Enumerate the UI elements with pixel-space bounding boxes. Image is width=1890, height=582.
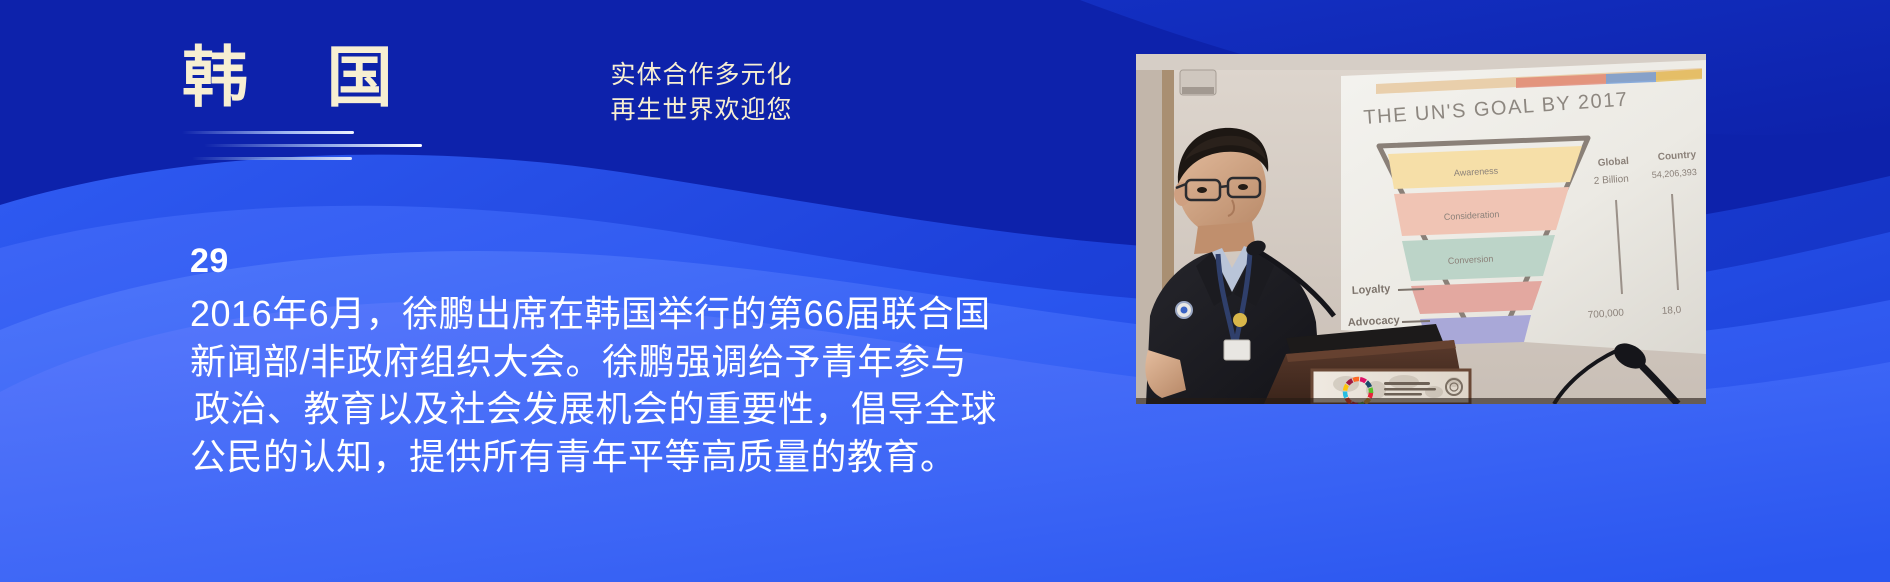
underline-rule-1 [182,131,354,134]
slide-subtitle: 实体合作多元化 再生世界欢迎您 [594,58,809,127]
presentation-slide: 韩 国 实体合作多元化 再生世界欢迎您 29 2016年6月，徐鹏出席在韩国举行… [0,0,1890,582]
title-group: 韩 国 [182,44,407,110]
slide-header: 韩 国 实体合作多元化 再生世界欢迎您 [0,0,1135,190]
slide-body: 29 2016年6月，徐鹏出席在韩国举行的第66届联合国 新闻部/非政府组织大会… [190,244,1050,480]
svg-text:Global: Global [1597,156,1629,169]
paragraph-line-4: 公民的认知，提供所有青年平等高质量的教育。 [190,433,1050,481]
item-number: 29 [190,244,1050,278]
underline-rule-2 [204,144,422,147]
page-title: 韩 国 [182,44,407,110]
paragraph-line-1: 2016年6月，徐鹏出席在韩国举行的第66届联合国 [190,290,1050,338]
title-underline-decoration [182,131,432,165]
photo-content: THE UN'S GOAL BY 2017 Awareness Consider… [1136,54,1706,404]
paragraph-line-3: 政治、教育以及社会发展机会的重要性，倡导全球 [190,385,1050,433]
body-paragraph: 2016年6月，徐鹏出席在韩国举行的第66届联合国 新闻部/非政府组织大会。徐鹏… [190,290,1050,480]
paragraph-line-2: 新闻部/非政府组织大会。徐鹏强调给予青年参与 [190,338,1050,386]
svg-text:Loyalty: Loyalty [1352,283,1392,297]
subtitle-line-2: 再生世界欢迎您 [594,93,809,128]
underline-rule-3 [192,157,352,160]
svg-text:18,0: 18,0 [1661,305,1682,317]
conference-photo: THE UN'S GOAL BY 2017 Awareness Consider… [1136,54,1706,404]
subtitle-line-1: 实体合作多元化 [594,58,809,93]
